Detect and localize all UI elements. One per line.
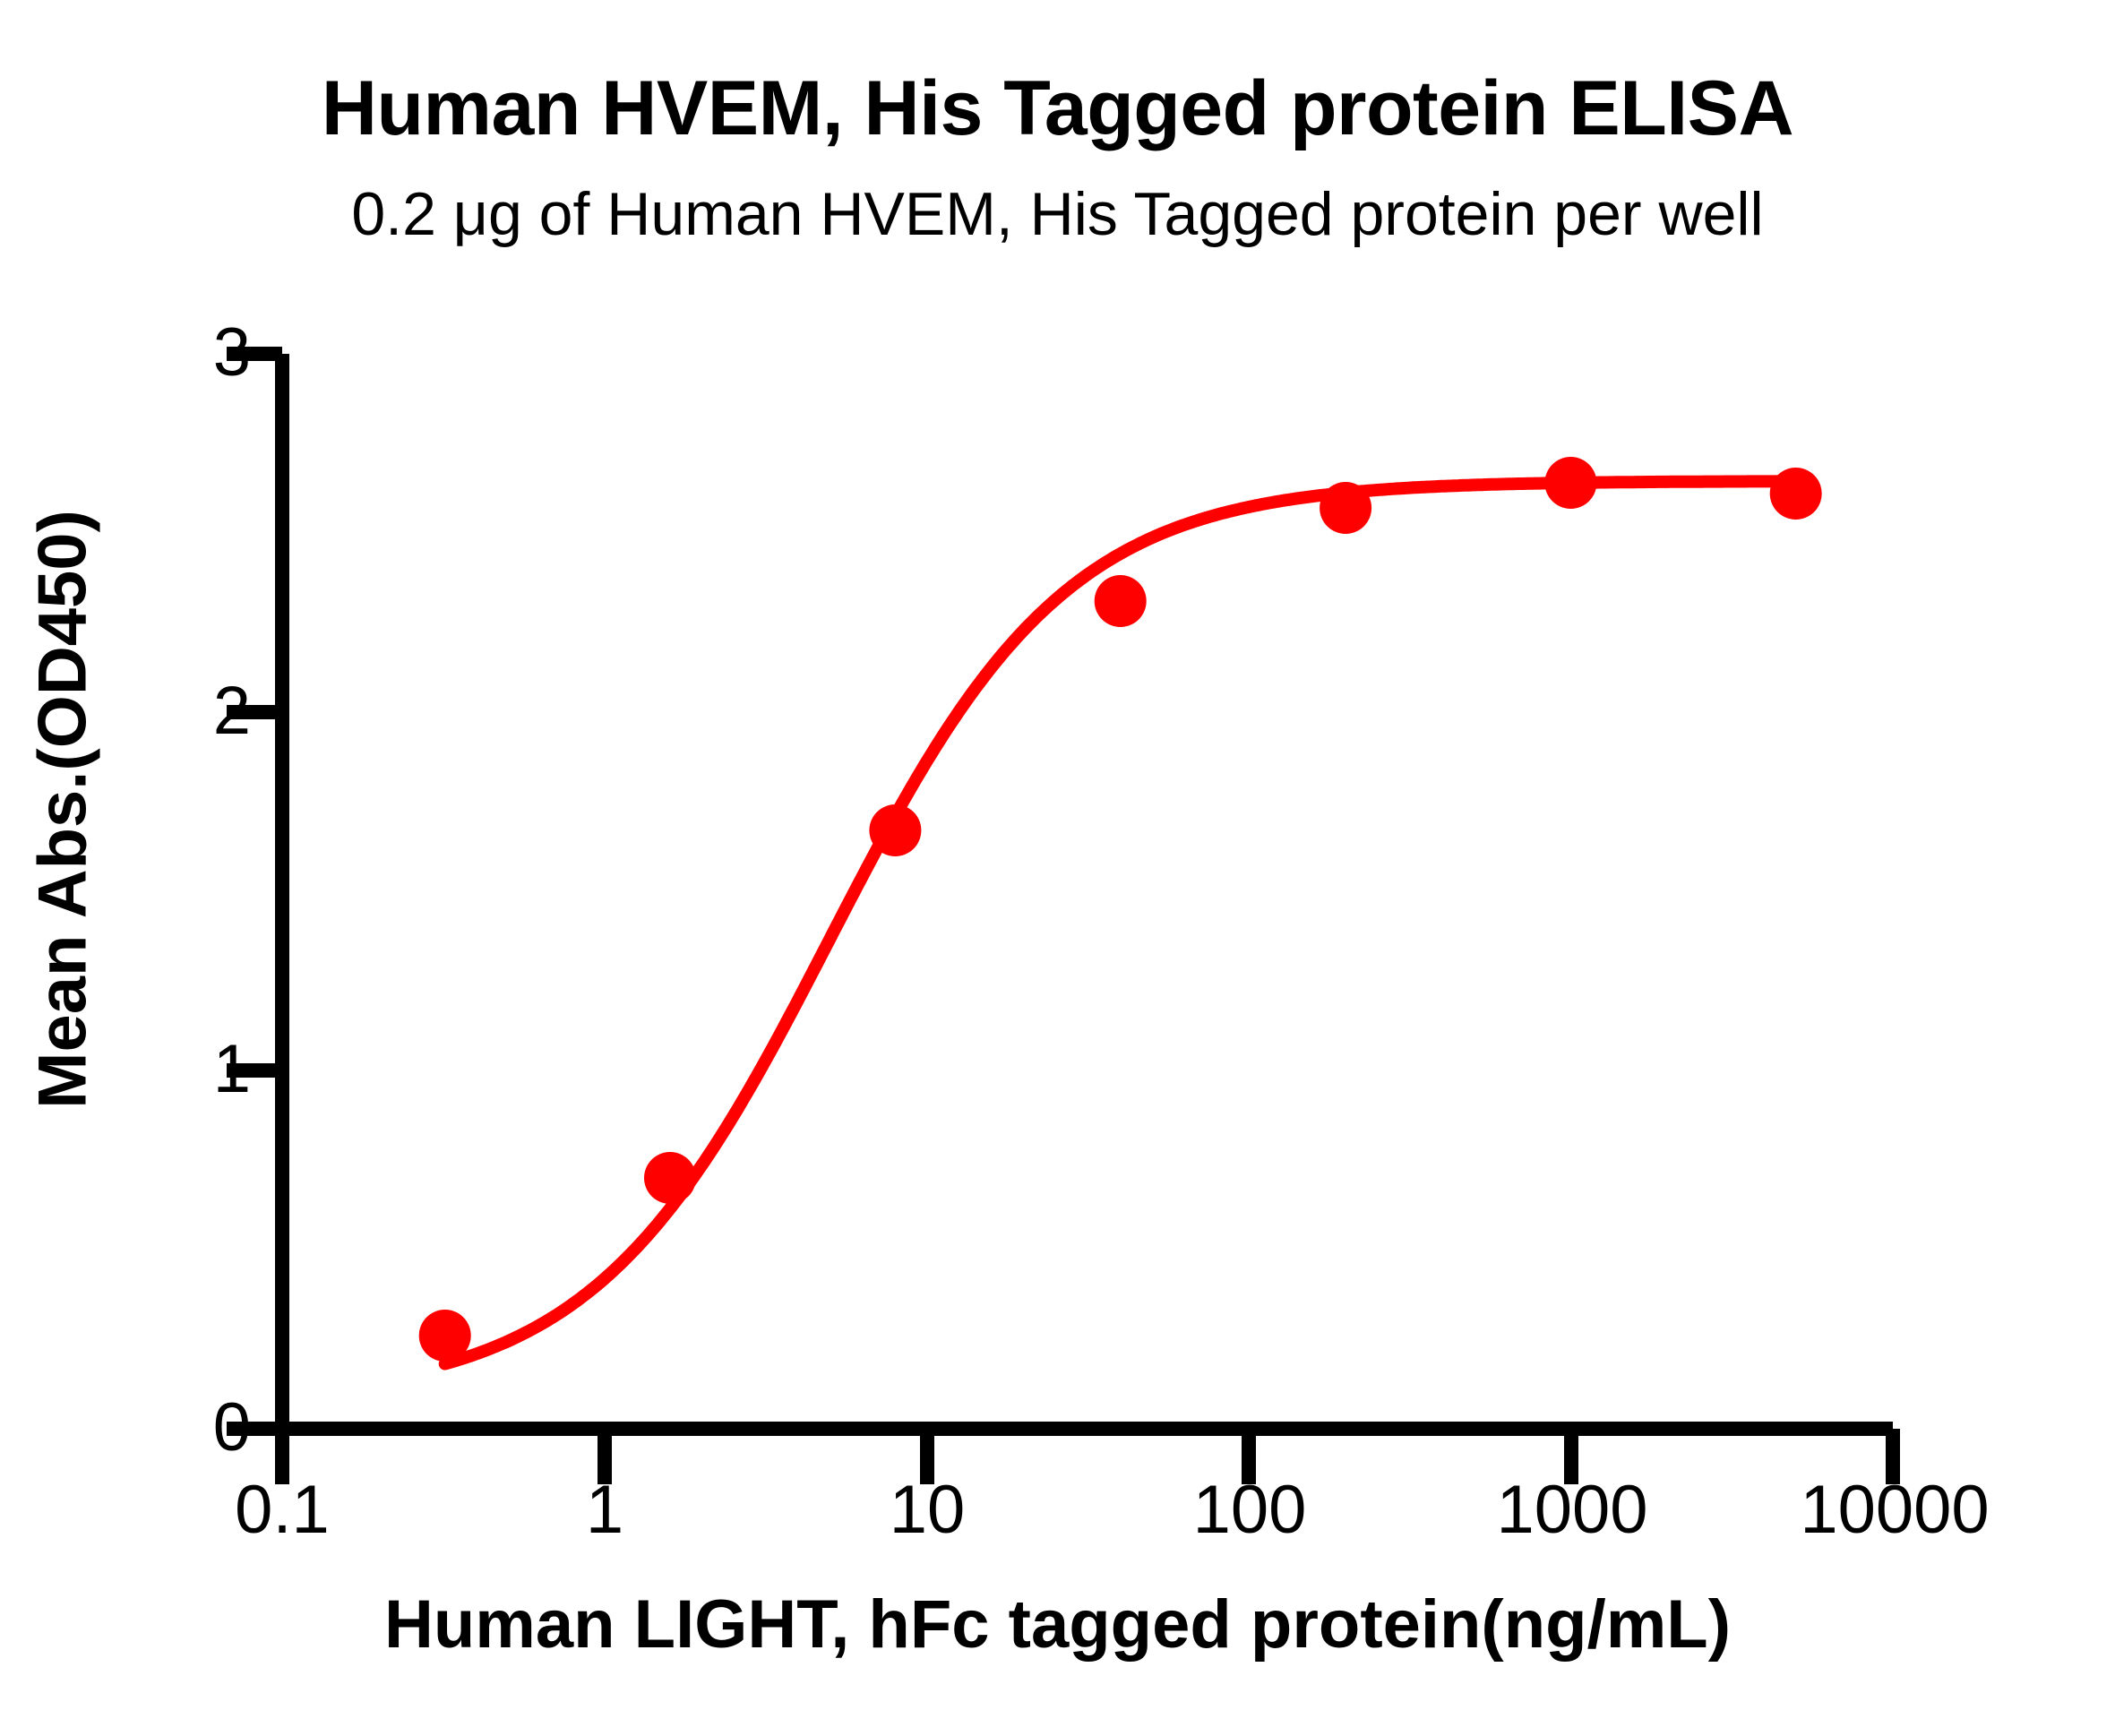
data-point-group	[419, 457, 1822, 1362]
data-point	[1544, 457, 1596, 509]
data-point	[1095, 575, 1147, 627]
plot-area	[0, 0, 2115, 1736]
data-point	[1770, 468, 1822, 520]
data-point	[644, 1152, 696, 1204]
data-point	[1320, 482, 1371, 534]
data-point	[419, 1310, 471, 1362]
elisa-chart-figure: Human HVEM, His Tagged protein ELISA 0.2…	[0, 0, 2115, 1736]
data-point	[869, 804, 921, 856]
